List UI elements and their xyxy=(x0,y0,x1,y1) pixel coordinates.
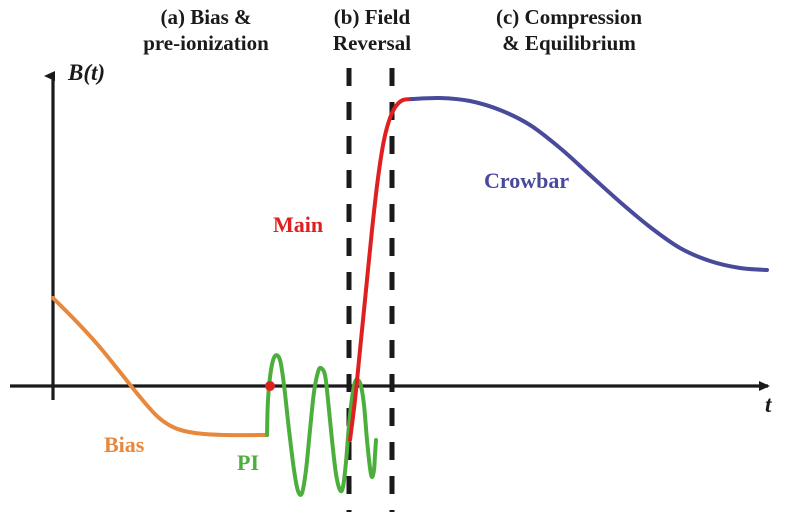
y-axis-label: B(t) xyxy=(68,60,105,86)
phase-header-bias-preionization: (a) Bias & pre-ionization xyxy=(108,4,304,56)
pi-start-marker xyxy=(265,381,275,391)
curve-bias xyxy=(53,298,267,435)
curve-label-bias: Bias xyxy=(104,432,144,458)
phase-header-compression-equilibrium: (c) Compression & Equilibrium xyxy=(440,4,698,56)
x-axis-label: t xyxy=(765,392,771,418)
phase-header-field-reversal: (b) Field Reversal xyxy=(306,4,438,56)
curve-label-crowbar: Crowbar xyxy=(484,168,569,194)
curve-main xyxy=(350,99,412,440)
curve-label-pi: PI xyxy=(237,450,259,476)
curve-pi xyxy=(267,355,376,495)
curve-label-main: Main xyxy=(273,212,323,238)
curve-crowbar xyxy=(412,98,767,270)
